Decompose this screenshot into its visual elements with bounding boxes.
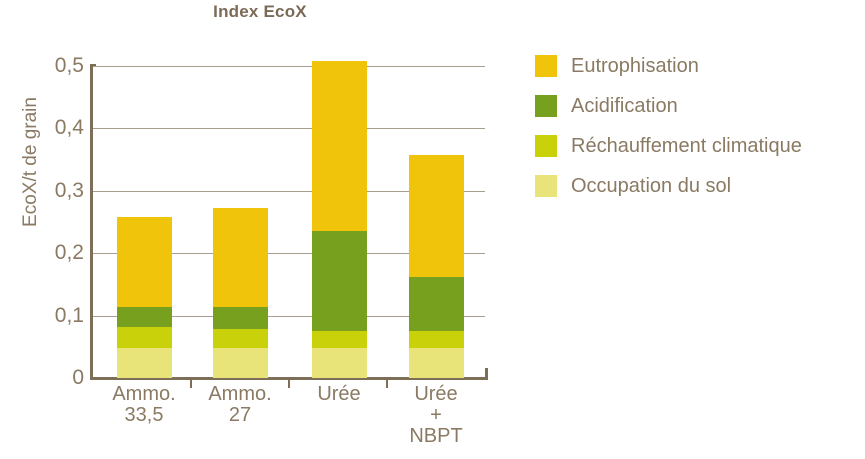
bar-stack[interactable] (117, 66, 172, 378)
legend-color-swatch (535, 95, 557, 117)
bar-segment[interactable] (117, 348, 172, 378)
x-axis-category-label: Urée+NBPT (381, 384, 491, 448)
bar-segment[interactable] (312, 331, 367, 348)
bar-segment[interactable] (213, 329, 268, 348)
bar-stack[interactable] (409, 66, 464, 378)
plot-area (93, 66, 485, 378)
legend-item-label: Occupation du sol (571, 175, 731, 198)
chart-container: Index EcoX EcoX/t de grain 0,50,40,30,20… (0, 0, 865, 459)
x-axis-category-label: Urée (284, 384, 394, 405)
y-axis-tick-label: 0,2 (4, 242, 84, 263)
bar-segment[interactable] (409, 277, 464, 331)
y-axis-tick-label: 0,5 (4, 55, 84, 76)
legend-color-swatch (535, 55, 557, 77)
legend-item-label: Réchauffement climatique (571, 135, 802, 158)
bar-segment[interactable] (409, 348, 464, 378)
y-axis-tick-label: 0 (4, 367, 84, 388)
bar-segment[interactable] (117, 307, 172, 327)
bar-stack[interactable] (213, 66, 268, 378)
y-axis-tick-label: 0,3 (4, 180, 84, 201)
bar-segment[interactable] (213, 348, 268, 378)
bar-segment[interactable] (213, 307, 268, 329)
bar-segment[interactable] (312, 61, 367, 231)
bar-segment[interactable] (117, 217, 172, 307)
y-axis-tick-label: 0,1 (4, 305, 84, 326)
legend-color-swatch (535, 135, 557, 157)
bar-segment[interactable] (312, 231, 367, 331)
bar-segment[interactable] (312, 348, 367, 378)
legend-item[interactable]: Acidification (535, 86, 865, 126)
x-axis-category-label: Ammo.33,5 (89, 384, 199, 426)
legend-item[interactable]: Eutrophisation (535, 46, 865, 86)
legend-item-label: Acidification (571, 95, 678, 118)
legend-color-swatch (535, 175, 557, 197)
legend-item[interactable]: Réchauffement climatique (535, 126, 865, 166)
legend-item-label: Eutrophisation (571, 55, 699, 78)
bar-segment[interactable] (409, 155, 464, 277)
y-axis-tick-label: 0,4 (4, 117, 84, 138)
bar-stack[interactable] (312, 66, 367, 378)
chart-legend: EutrophisationAcidificationRéchauffement… (535, 46, 865, 206)
x-axis-category-label: Ammo.27 (185, 384, 295, 426)
x-axis-end-cap (485, 368, 488, 380)
bar-segment[interactable] (213, 208, 268, 307)
bar-segment[interactable] (117, 327, 172, 348)
y-axis-tick-labels: 0,50,40,30,20,10 (0, 0, 84, 459)
bar-segment[interactable] (409, 331, 464, 348)
legend-item[interactable]: Occupation du sol (535, 166, 865, 206)
